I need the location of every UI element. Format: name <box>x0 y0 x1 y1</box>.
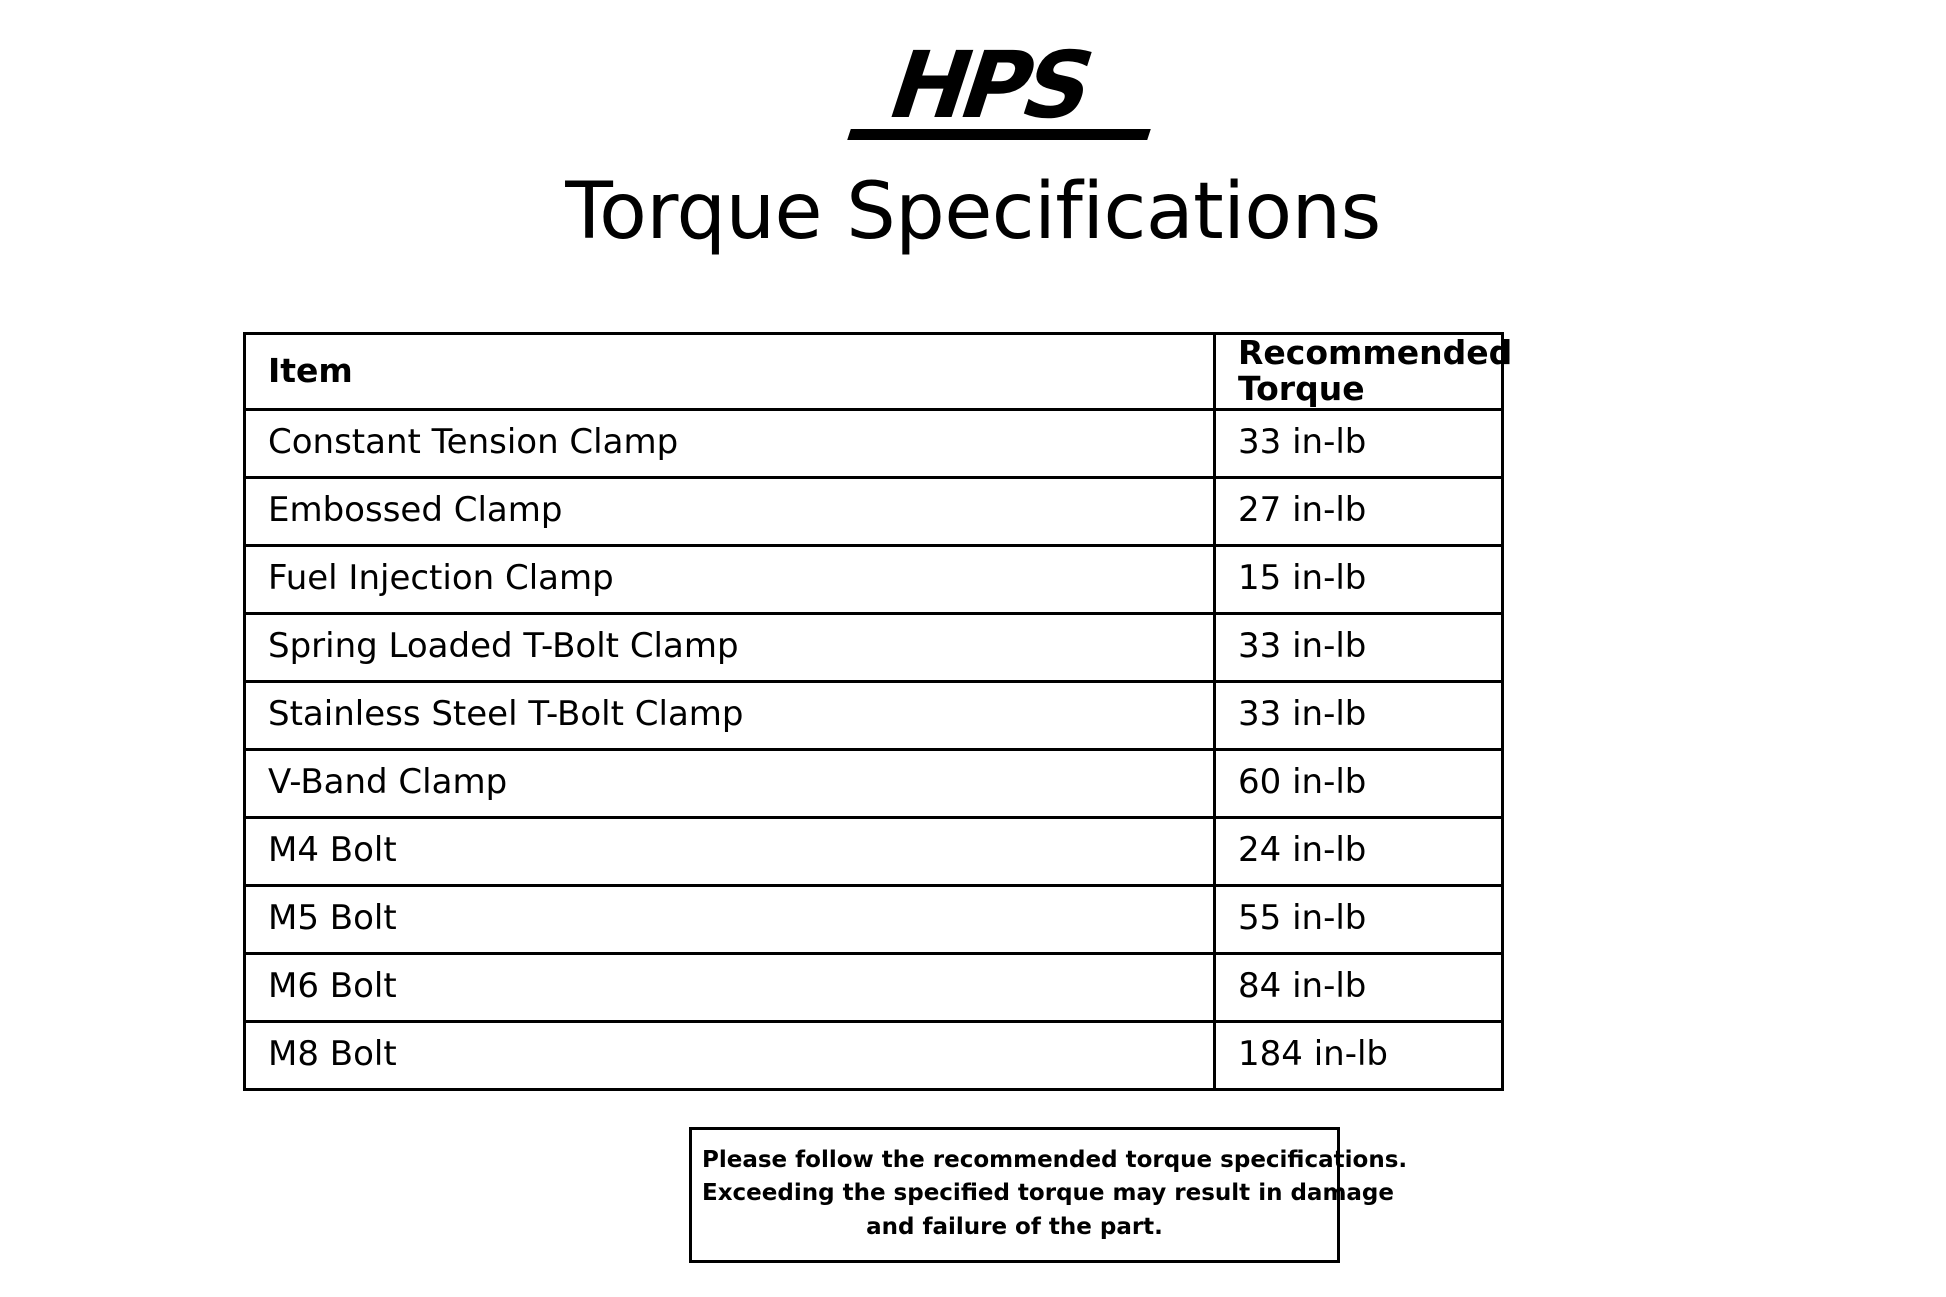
brand-logo: HPS <box>0 42 1946 129</box>
note-line-2: Exceeding the specified torque may resul… <box>702 1177 1327 1210</box>
column-header-recommended-torque: Recommended Torque <box>1215 334 1503 410</box>
torque-table: Item Recommended Torque Constant Tension… <box>243 332 1504 1091</box>
cell-item: Stainless Steel T-Bolt Clamp <box>245 681 1215 749</box>
cell-torque: 24 in-lb <box>1215 817 1503 885</box>
warning-note-box: Please follow the recommended torque spe… <box>689 1127 1340 1263</box>
cell-torque: 184 in-lb <box>1215 1021 1503 1089</box>
cell-torque: 33 in-lb <box>1215 613 1503 681</box>
cell-item: M6 Bolt <box>245 953 1215 1021</box>
cell-item: M8 Bolt <box>245 1021 1215 1089</box>
table-body: Constant Tension Clamp 33 in-lb Embossed… <box>245 409 1503 1089</box>
cell-item: Spring Loaded T-Bolt Clamp <box>245 613 1215 681</box>
note-line-1: Please follow the recommended torque spe… <box>702 1144 1327 1177</box>
column-header-item: Item <box>245 334 1215 410</box>
cell-torque: 33 in-lb <box>1215 409 1503 477</box>
cell-torque: 55 in-lb <box>1215 885 1503 953</box>
cell-item: Embossed Clamp <box>245 477 1215 545</box>
table-row: M8 Bolt 184 in-lb <box>245 1021 1503 1089</box>
note-line-3: and failure of the part. <box>702 1211 1327 1244</box>
cell-item: Constant Tension Clamp <box>245 409 1215 477</box>
brand-logo-text: HPS <box>865 42 1110 129</box>
cell-torque: 27 in-lb <box>1215 477 1503 545</box>
cell-torque: 15 in-lb <box>1215 545 1503 613</box>
table-row: Fuel Injection Clamp 15 in-lb <box>245 545 1503 613</box>
cell-item: M4 Bolt <box>245 817 1215 885</box>
table-head: Item Recommended Torque <box>245 334 1503 410</box>
cell-item: M5 Bolt <box>245 885 1215 953</box>
table-header-row: Item Recommended Torque <box>245 334 1503 410</box>
table-row: M5 Bolt 55 in-lb <box>245 885 1503 953</box>
cell-item: Fuel Injection Clamp <box>245 545 1215 613</box>
table-row: V-Band Clamp 60 in-lb <box>245 749 1503 817</box>
cell-torque: 60 in-lb <box>1215 749 1503 817</box>
cell-torque: 33 in-lb <box>1215 681 1503 749</box>
cell-item: V-Band Clamp <box>245 749 1215 817</box>
table-row: Spring Loaded T-Bolt Clamp 33 in-lb <box>245 613 1503 681</box>
torque-table-container: Item Recommended Torque Constant Tension… <box>243 332 1501 1091</box>
table-row: Constant Tension Clamp 33 in-lb <box>245 409 1503 477</box>
table-row: Stainless Steel T-Bolt Clamp 33 in-lb <box>245 681 1503 749</box>
hps-wordmark-icon: HPS <box>865 42 1082 129</box>
cell-torque: 84 in-lb <box>1215 953 1503 1021</box>
table-row: M4 Bolt 24 in-lb <box>245 817 1503 885</box>
table-row: M6 Bolt 84 in-lb <box>245 953 1503 1021</box>
torque-specification-sheet: HPS Torque Specifications Item Recommend… <box>0 0 1946 1297</box>
page-title: Torque Specifications <box>0 170 1946 256</box>
table-row: Embossed Clamp 27 in-lb <box>245 477 1503 545</box>
logo-underline-bar <box>847 129 1151 140</box>
